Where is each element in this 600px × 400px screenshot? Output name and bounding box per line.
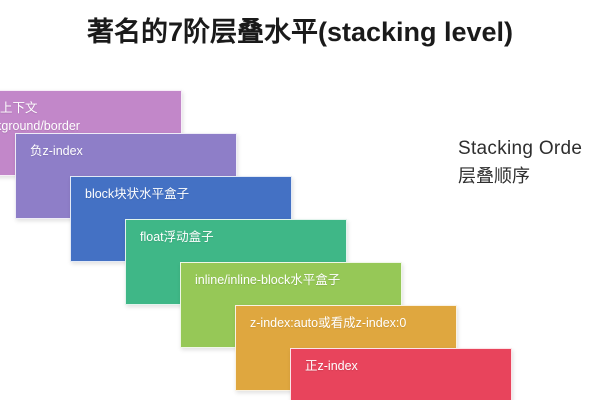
slide-canvas: 著名的7阶层叠水平(stacking level) 层叠上下文backgroun… — [0, 0, 600, 400]
stacking-level-label: inline/inline-block水平盒子 — [195, 271, 401, 289]
stacking-level-label: float浮动盒子 — [140, 228, 346, 246]
stacking-level-label: z-index:auto或看成z-index:0 — [250, 314, 456, 332]
caption-english: Stacking Orde — [458, 136, 582, 162]
stacking-level-box: 正z-index — [290, 348, 512, 400]
stacking-level-label: block块状水平盒子 — [85, 185, 291, 203]
stacking-level-cascade: 层叠上下文background/border负z-indexblock块状水平盒… — [0, 0, 600, 400]
stacking-level-label: 层叠上下文 — [0, 99, 181, 117]
stacking-level-label: 正z-index — [305, 357, 511, 375]
stacking-order-caption: Stacking Orde 层叠顺序 — [458, 136, 582, 188]
stacking-level-label: 负z-index — [30, 142, 236, 160]
caption-chinese: 层叠顺序 — [458, 164, 582, 188]
